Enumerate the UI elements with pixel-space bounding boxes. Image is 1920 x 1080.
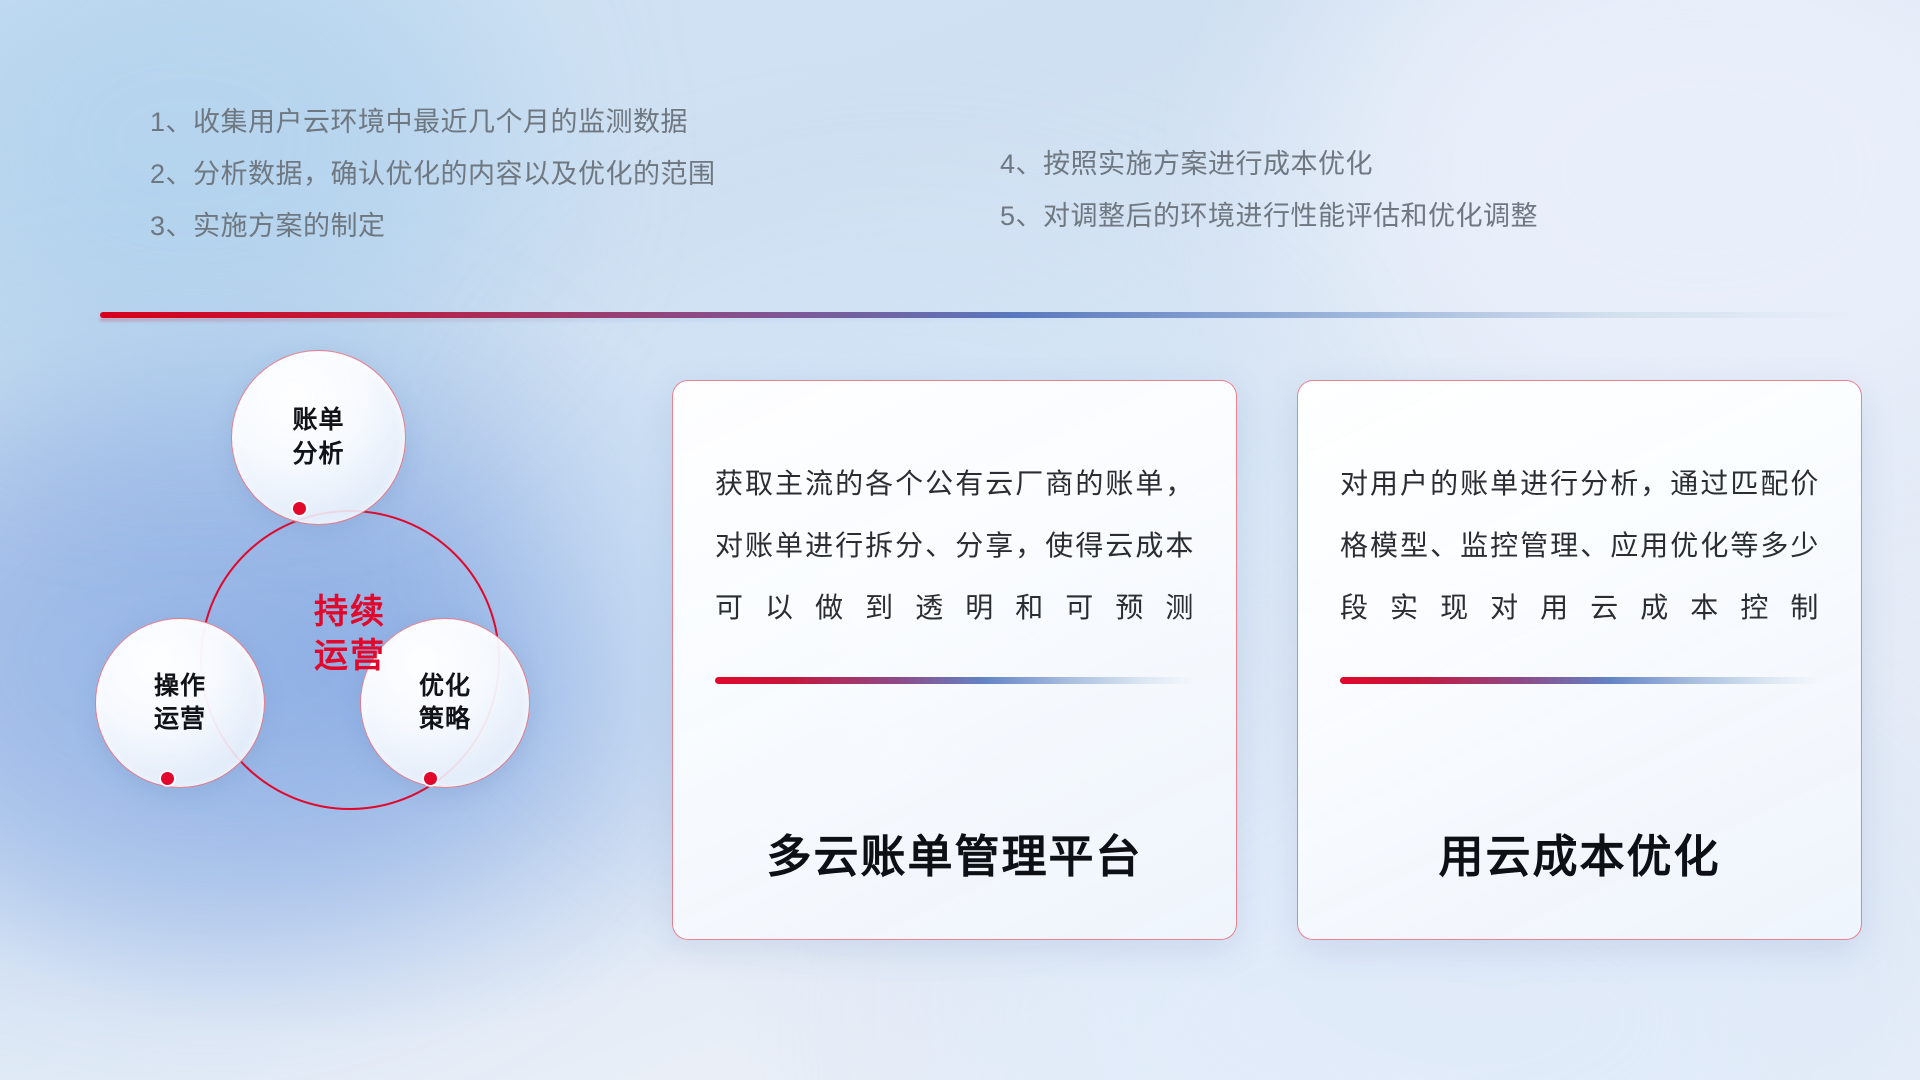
diagram-connector-dot-top — [293, 502, 306, 515]
feature-card-cloud-cost-optimization[interactable]: 对用户的账单进行分析，通过匹配价格模型、监控管理、应用优化等多少段实现对用云成本… — [1297, 380, 1862, 940]
feature-card-multi-cloud-bill-platform[interactable]: 获取主流的各个公有云厂商的账单，对账单进行拆分、分享，使得云成本可以做到透明和可… — [672, 380, 1237, 940]
process-step-3: 3、实施方案的制定 — [150, 200, 716, 252]
feature-card-rule — [715, 677, 1194, 684]
diagram-node-label: 账单 分析 — [292, 404, 344, 471]
process-step-1: 1、收集用户云环境中最近几个月的监测数据 — [150, 96, 716, 148]
diagram-node-label: 操作 运营 — [154, 670, 206, 737]
diagram-connector-dot-bottom-left — [161, 772, 174, 785]
feature-card-description: 获取主流的各个公有云厂商的账单，对账单进行拆分、分享，使得云成本可以做到透明和可… — [715, 453, 1194, 639]
process-steps-left-column: 1、收集用户云环境中最近几个月的监测数据 2、分析数据，确认优化的内容以及优化的… — [150, 96, 716, 252]
feature-card-description: 对用户的账单进行分析，通过匹配价格模型、监控管理、应用优化等多少段实现对用云成本… — [1340, 453, 1819, 639]
feature-card-title: 用云成本优化 — [1340, 820, 1819, 939]
feature-card-title: 多云账单管理平台 — [715, 820, 1194, 939]
slide-canvas: 1、收集用户云环境中最近几个月的监测数据 2、分析数据，确认优化的内容以及优化的… — [0, 0, 1920, 1080]
section-divider-rule — [100, 312, 1860, 318]
process-step-2: 2、分析数据，确认优化的内容以及优化的范围 — [150, 148, 716, 200]
continuous-operation-diagram: 账单 分析 操作 运营 优化 策略 持续 运营 — [90, 350, 610, 950]
diagram-node-bill-analysis[interactable]: 账单 分析 — [231, 350, 406, 525]
feature-card-list: 获取主流的各个公有云厂商的账单，对账单进行拆分、分享，使得云成本可以做到透明和可… — [672, 380, 1862, 940]
diagram-connector-dot-bottom-right — [424, 772, 437, 785]
process-step-4: 4、按照实施方案进行成本优化 — [1000, 138, 1538, 190]
diagram-node-label: 优化 策略 — [419, 670, 471, 737]
process-steps: 1、收集用户云环境中最近几个月的监测数据 2、分析数据，确认优化的内容以及优化的… — [0, 96, 1920, 266]
process-step-5: 5、对调整后的环境进行性能评估和优化调整 — [1000, 190, 1538, 242]
process-steps-right-column: 4、按照实施方案进行成本优化 5、对调整后的环境进行性能评估和优化调整 — [1000, 138, 1538, 242]
feature-card-rule — [1340, 677, 1819, 684]
diagram-center-label: 持续 运营 — [200, 590, 500, 678]
